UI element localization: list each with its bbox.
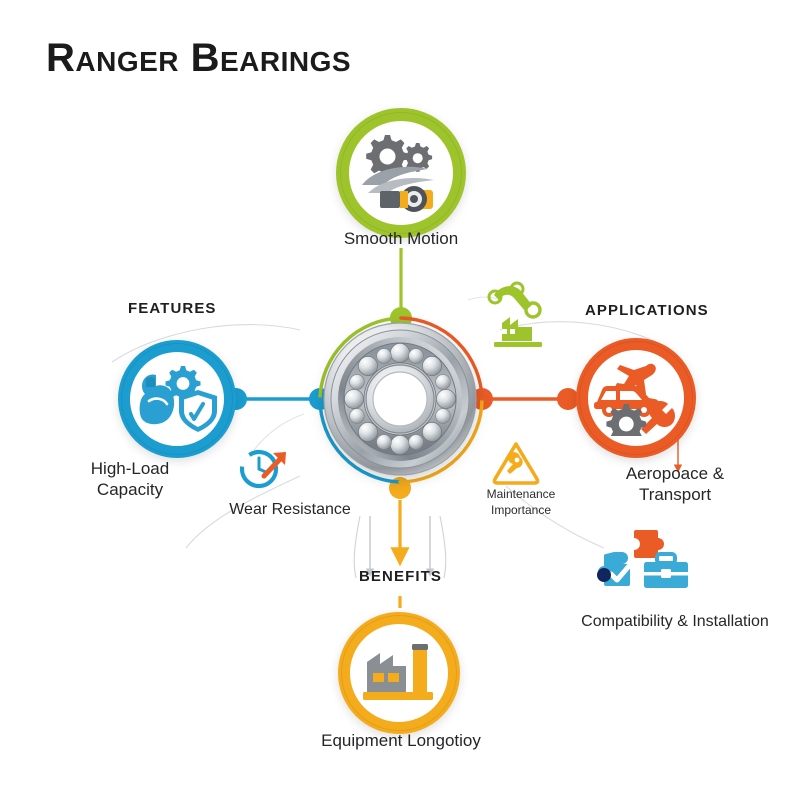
page-title: Ranger Bearings [46,36,351,81]
connector-applications [471,388,579,410]
node-caption-equipment-longevity: Equipment Longotioy [301,730,501,751]
satellite-caption-wear-resistance: Wear Resistance [205,500,375,520]
node-caption-smooth-motion: Smooth Motion [301,228,501,249]
section-label-applications: APPLICATIONS [585,302,709,319]
high-load-icon-group [137,364,217,434]
warning-wrench-icon [494,444,537,483]
shield-check-icon [179,390,217,432]
node-equipment-longevity[interactable] [338,612,460,734]
factory-icon [361,640,437,706]
node-smooth-motion[interactable] [336,108,466,238]
node-caption-aerospace-transport: Aeropoace & Transport [600,463,750,506]
node-aerospace-transport[interactable] [576,338,696,458]
connector-benefits [389,477,411,608]
applications-icon-group [594,360,678,436]
ball-bearing-graphic [324,323,476,475]
puzzle-briefcase-icon [597,530,688,588]
node-high-load-capacity[interactable] [118,340,236,458]
node-caption-high-load-capacity: High-Load Capacity [55,458,205,501]
smooth-motion-icon-group [358,133,444,213]
robot-arm-factory-icon [489,283,542,347]
section-label-benefits: BENEFITS [359,568,442,585]
connector-features [225,388,331,410]
satellite-caption-compatibility-installation: Compatibility & Installation [560,612,790,632]
section-label-features: FEATURES [128,300,217,317]
satellite-caption-maintenance-importance: Maintenance Importance [462,487,580,518]
